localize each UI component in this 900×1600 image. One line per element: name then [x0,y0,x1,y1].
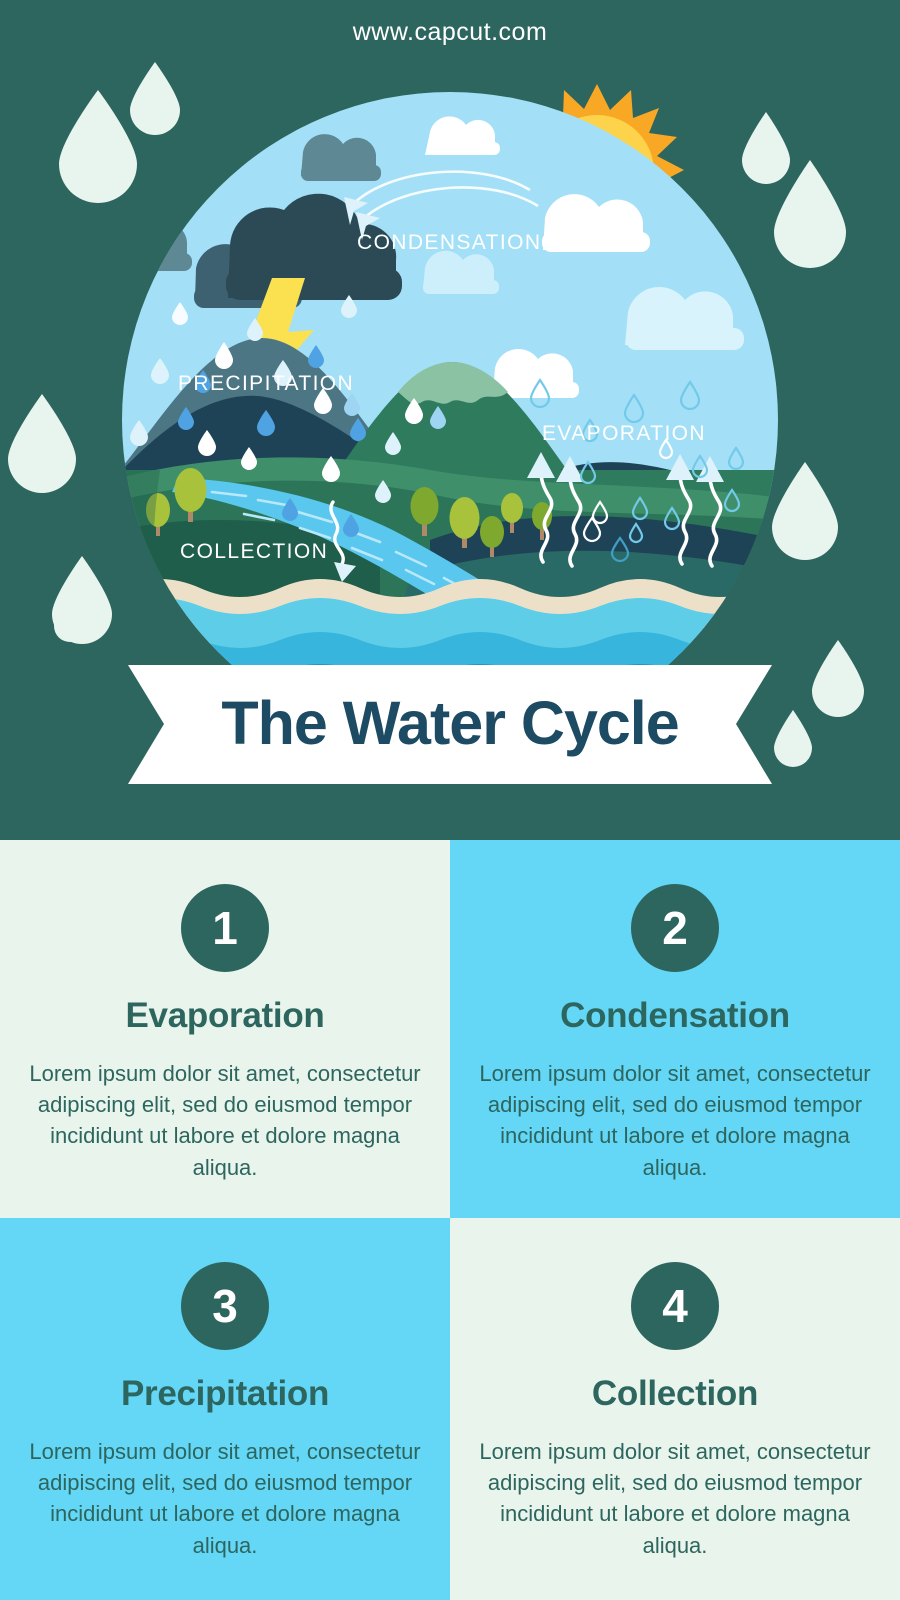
step-number-badge: 4 [631,1262,719,1350]
water-drop-icon [59,90,137,203]
water-drop-icon [130,62,180,135]
title-ribbon-wrap: The Water Cycle [0,660,900,785]
step-card-evaporation[interactable]: 1 Evaporation Lorem ipsum dolor sit amet… [0,840,450,1218]
label-precipitation: PRECIPITATION [178,372,354,395]
step-title: Condensation [560,996,790,1036]
step-title: Collection [592,1374,758,1414]
step-title: Evaporation [126,996,325,1036]
step-number-badge: 1 [181,884,269,972]
label-condensation: CONDENSATION [357,231,541,254]
step-body: Lorem ipsum dolor sit amet, consectetur … [476,1436,874,1561]
label-collection: COLLECTION [180,540,328,563]
steps-grid: 1 Evaporation Lorem ipsum dolor sit amet… [0,840,900,1600]
step-card-collection[interactable]: 4 Collection Lorem ipsum dolor sit amet,… [450,1218,900,1600]
step-body: Lorem ipsum dolor sit amet, consectetur … [476,1058,874,1183]
label-evaporation: EVAPORATION [542,422,706,445]
step-body: Lorem ipsum dolor sit amet, consectetur … [26,1058,424,1183]
hero-section: www.capcut.com [0,0,900,840]
step-title: Precipitation [121,1374,329,1414]
step-card-precipitation[interactable]: 3 Precipitation Lorem ipsum dolor sit am… [0,1218,450,1600]
step-number-badge: 3 [181,1262,269,1350]
page-title: The Water Cycle [0,660,900,785]
step-number-badge: 2 [631,884,719,972]
step-body: Lorem ipsum dolor sit amet, consectetur … [26,1436,424,1561]
step-card-condensation[interactable]: 2 Condensation Lorem ipsum dolor sit ame… [450,840,900,1218]
water-drop-icon [742,112,790,184]
water-drop-icon [772,462,838,560]
storm-cloud-icon [102,218,192,271]
water-drop-icon [8,394,76,493]
water-drop-icon [774,160,846,268]
infographic-page: www.capcut.com [0,0,900,1600]
